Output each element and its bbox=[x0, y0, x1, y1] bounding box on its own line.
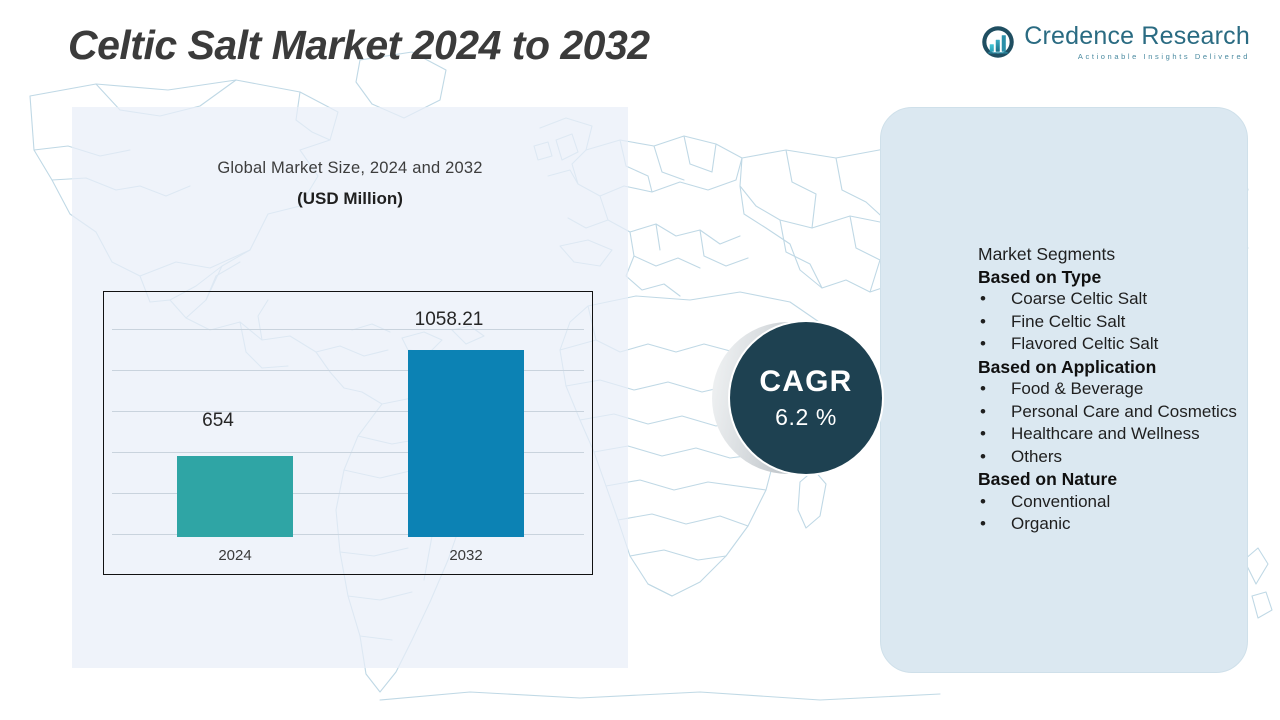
segment-item-label: Organic bbox=[1011, 514, 1071, 533]
bar-chart-circle-icon bbox=[980, 24, 1016, 60]
list-item: •Flavored Celtic Salt bbox=[978, 333, 1248, 356]
cagr-circle: CAGR 6.2 % bbox=[730, 322, 882, 474]
cagr-value: 6.2 % bbox=[775, 406, 837, 429]
segment-item-label: Personal Care and Cosmetics bbox=[1011, 402, 1237, 421]
chart-subtitle: (USD Million) bbox=[72, 189, 628, 209]
brand-tagline: Actionable Insights Delivered bbox=[1024, 53, 1250, 61]
chart-plot-area: 654 2024 1058.21 2032 bbox=[103, 291, 593, 575]
bar-label-2024: 2024 bbox=[177, 547, 293, 564]
bullet-icon: • bbox=[980, 288, 986, 311]
bullet-icon: • bbox=[980, 333, 986, 356]
bullet-icon: • bbox=[980, 491, 986, 514]
segment-list-nature: •Conventional •Organic bbox=[978, 491, 1248, 536]
list-item: •Personal Care and Cosmetics bbox=[978, 401, 1248, 424]
list-item: •Coarse Celtic Salt bbox=[978, 288, 1248, 311]
segments-heading: Market Segments bbox=[978, 243, 1248, 266]
segment-item-label: Food & Beverage bbox=[1011, 379, 1143, 398]
segment-group-title-type: Based on Type bbox=[978, 266, 1248, 289]
brand-logo: Credence Research Actionable Insights De… bbox=[980, 24, 1250, 61]
cagr-label: CAGR bbox=[759, 367, 852, 397]
list-item: •Organic bbox=[978, 513, 1248, 536]
bar-label-2032: 2032 bbox=[408, 547, 524, 564]
market-segments: Market Segments Based on Type •Coarse Ce… bbox=[978, 243, 1248, 536]
list-item: •Fine Celtic Salt bbox=[978, 311, 1248, 334]
bullet-icon: • bbox=[980, 513, 986, 536]
chart-title: Global Market Size, 2024 and 2032 bbox=[72, 159, 628, 178]
list-item: •Healthcare and Wellness bbox=[978, 423, 1248, 446]
segment-item-label: Flavored Celtic Salt bbox=[1011, 334, 1158, 353]
bullet-icon: • bbox=[980, 311, 986, 334]
segment-item-label: Fine Celtic Salt bbox=[1011, 312, 1125, 331]
market-size-chart: Global Market Size, 2024 and 2032 (USD M… bbox=[72, 107, 628, 668]
bullet-icon: • bbox=[980, 378, 986, 401]
segment-group-title-application: Based on Application bbox=[978, 356, 1248, 379]
page-title: Celtic Salt Market 2024 to 2032 bbox=[68, 22, 650, 69]
list-item: •Food & Beverage bbox=[978, 378, 1248, 401]
bullet-icon: • bbox=[980, 446, 986, 469]
bar-value-2024: 654 bbox=[160, 410, 276, 432]
segment-group-title-nature: Based on Nature bbox=[978, 468, 1248, 491]
bar-2032 bbox=[408, 350, 524, 537]
bar-2024 bbox=[177, 456, 293, 537]
segment-item-label: Healthcare and Wellness bbox=[1011, 424, 1200, 443]
gridline bbox=[112, 329, 584, 330]
list-item: •Conventional bbox=[978, 491, 1248, 514]
bullet-icon: • bbox=[980, 401, 986, 424]
segment-item-label: Coarse Celtic Salt bbox=[1011, 289, 1147, 308]
cagr-badge: CAGR 6.2 % bbox=[712, 322, 882, 474]
bullet-icon: • bbox=[980, 423, 986, 446]
segment-list-type: •Coarse Celtic Salt •Fine Celtic Salt •F… bbox=[978, 288, 1248, 356]
segment-list-application: •Food & Beverage •Personal Care and Cosm… bbox=[978, 378, 1248, 468]
brand-name: Credence Research bbox=[1024, 24, 1250, 49]
segment-item-label: Conventional bbox=[1011, 492, 1110, 511]
segment-item-label: Others bbox=[1011, 447, 1062, 466]
list-item: •Others bbox=[978, 446, 1248, 469]
bar-value-2032: 1058.21 bbox=[391, 309, 507, 331]
